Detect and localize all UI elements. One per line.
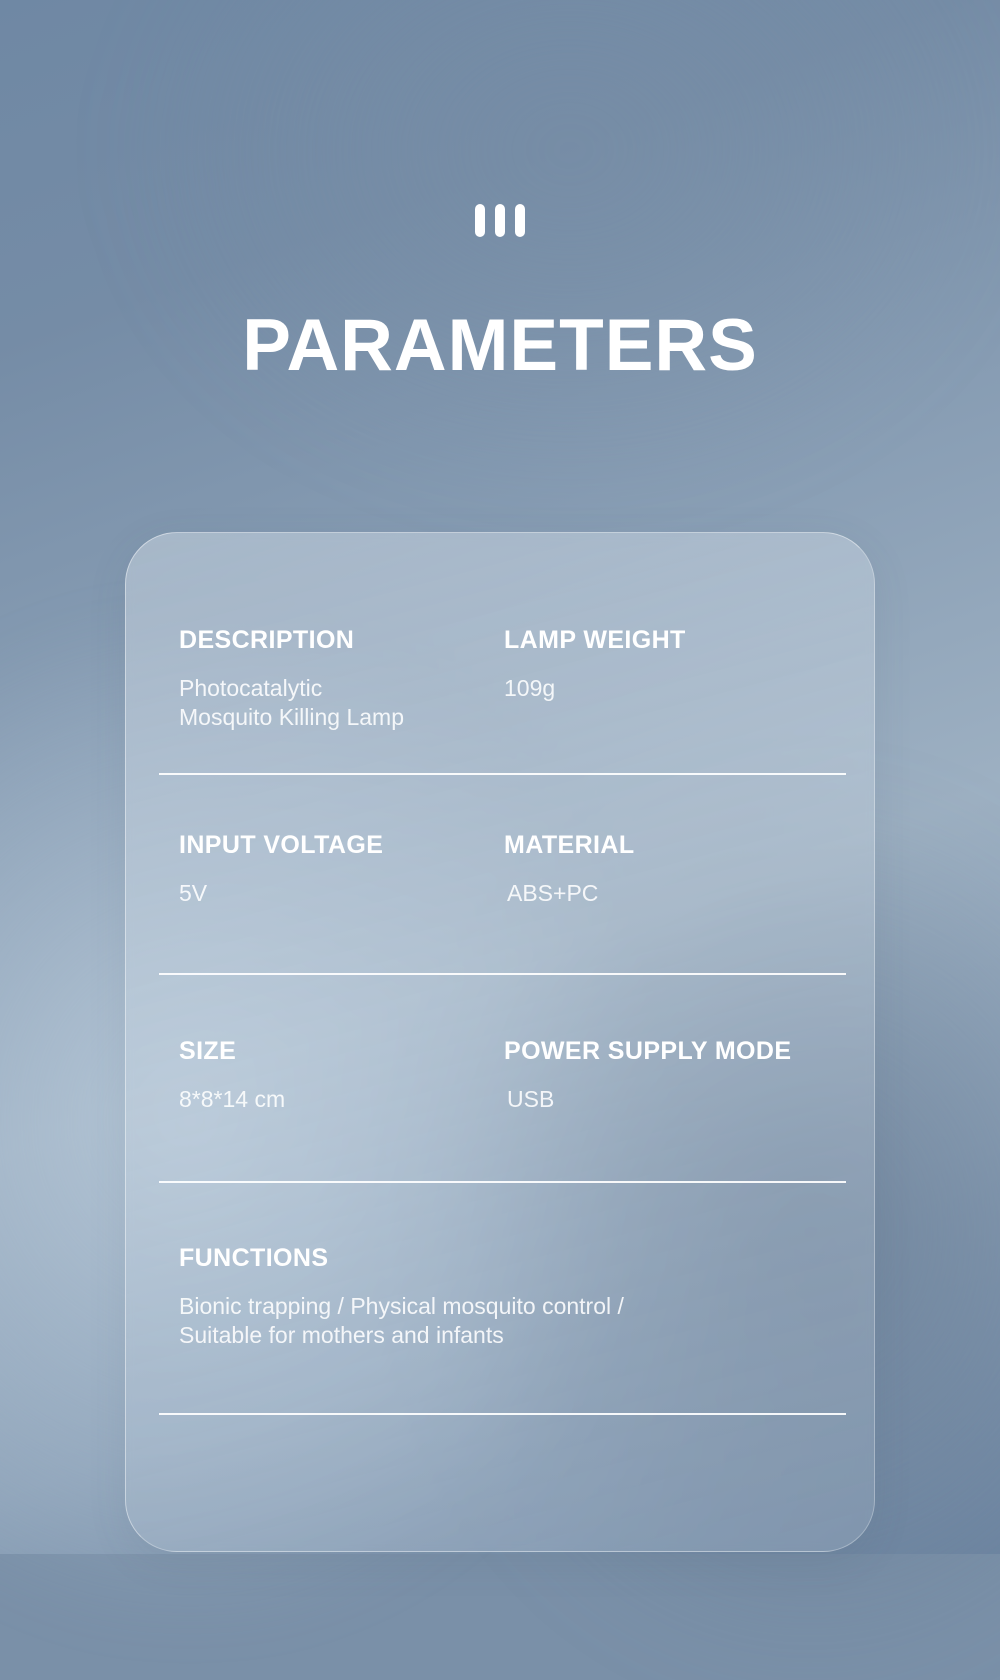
- spec-label: MATERIAL: [504, 832, 834, 860]
- spec-value: 8*8*14 cm: [179, 1085, 449, 1114]
- spec-cell-lamp-weight: LAMP WEIGHT 109g: [504, 627, 834, 703]
- spec-cell-functions: FUNCTIONS Bionic trapping / Physical mos…: [179, 1245, 839, 1350]
- page-title: PARAMETERS: [0, 309, 1000, 382]
- spec-cell-material: MATERIAL ABS+PC: [504, 832, 834, 908]
- spec-value: USB: [504, 1085, 834, 1114]
- row-divider: [159, 973, 846, 975]
- row-divider: [159, 1413, 846, 1415]
- spec-value: Photocatalytic Mosquito Killing Lamp: [179, 674, 449, 733]
- spec-label: INPUT VOLTAGE: [179, 832, 449, 860]
- spec-cell-power-supply-mode: POWER SUPPLY MODE USB: [504, 1038, 834, 1114]
- row-divider: [159, 773, 846, 775]
- spec-value: 109g: [504, 674, 834, 703]
- spec-cell-input-voltage: INPUT VOLTAGE 5V: [179, 832, 449, 908]
- spec-label: LAMP WEIGHT: [504, 627, 834, 655]
- spec-label: FUNCTIONS: [179, 1245, 839, 1273]
- bar-icon-3: [515, 204, 525, 237]
- spec-value: ABS+PC: [504, 879, 834, 908]
- spec-label: SIZE: [179, 1038, 449, 1066]
- page-header: PARAMETERS: [0, 0, 1000, 382]
- spec-row: SIZE 8*8*14 cm POWER SUPPLY MODE USB: [126, 1038, 874, 1148]
- spec-label: DESCRIPTION: [179, 627, 449, 655]
- spec-cell-description: DESCRIPTION Photocatalytic Mosquito Kill…: [179, 627, 449, 732]
- row-divider: [159, 1181, 846, 1183]
- specifications-card: DESCRIPTION Photocatalytic Mosquito Kill…: [125, 532, 875, 1552]
- three-bars-icon: [0, 0, 1000, 237]
- spec-row: DESCRIPTION Photocatalytic Mosquito Kill…: [126, 627, 874, 767]
- spec-cell-size: SIZE 8*8*14 cm: [179, 1038, 449, 1114]
- spec-value: 5V: [179, 879, 449, 908]
- spec-value: Bionic trapping / Physical mosquito cont…: [179, 1292, 839, 1351]
- spec-label: POWER SUPPLY MODE: [504, 1038, 834, 1066]
- spec-row: INPUT VOLTAGE 5V MATERIAL ABS+PC: [126, 832, 874, 942]
- bar-icon-1: [475, 204, 485, 237]
- spec-row: FUNCTIONS Bionic trapping / Physical mos…: [126, 1245, 874, 1385]
- parameters-page: PARAMETERS DESCRIPTION Photocatalytic Mo…: [0, 0, 1000, 1554]
- bar-icon-2: [495, 204, 505, 237]
